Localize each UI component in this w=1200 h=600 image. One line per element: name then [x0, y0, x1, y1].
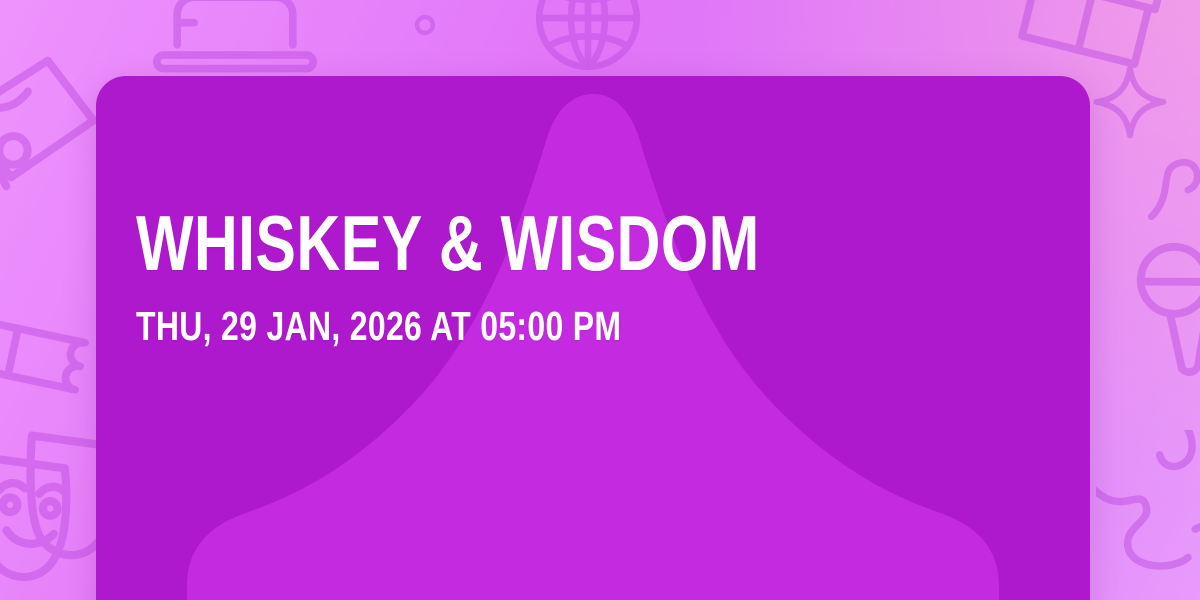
event-banner: WHISKEY & WISDOM THU, 29 JAN, 2026 AT 05…	[0, 0, 1200, 600]
ticket-icon	[0, 301, 103, 420]
streamer-swirl-icon	[1148, 150, 1200, 240]
event-datetime: THU, 29 JAN, 2026 AT 05:00 PM	[136, 306, 729, 347]
event-card-content: WHISKEY & WISDOM THU, 29 JAN, 2026 AT 05…	[136, 76, 896, 600]
gift-icon	[1003, 0, 1175, 79]
cake-icon	[150, 0, 320, 76]
event-title: WHISKEY & WISDOM	[136, 208, 729, 278]
globe-icon	[528, 0, 648, 78]
confetti-dot-icon	[414, 14, 436, 36]
event-card[interactable]: WHISKEY & WISDOM THU, 29 JAN, 2026 AT 05…	[96, 76, 1090, 600]
streamer-swirl-icon	[1096, 430, 1200, 600]
